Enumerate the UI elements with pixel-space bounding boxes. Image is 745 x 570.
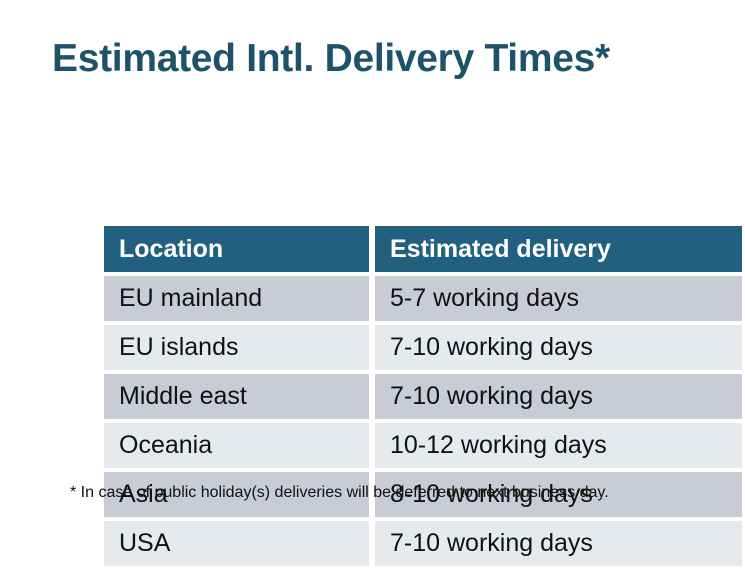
table-row: USA 7-10 working days [104, 521, 742, 566]
table-body: EU mainland 5-7 working days EU islands … [104, 276, 742, 566]
column-header-location: Location [104, 226, 369, 272]
footnote-public-holiday: * In case of public holiday(s) deliverie… [70, 482, 609, 504]
cell-location: Oceania [104, 423, 369, 468]
cell-location: EU mainland [104, 276, 369, 321]
column-header-estimated-delivery: Estimated delivery [375, 226, 742, 272]
delivery-times-page: Estimated Intl. Delivery Times* Location… [0, 0, 745, 536]
cell-location: EU islands [104, 325, 369, 370]
table-header-row: Location Estimated delivery [104, 226, 742, 272]
page-title: Estimated Intl. Delivery Times* [52, 36, 610, 82]
cell-delivery: 7-10 working days [375, 521, 742, 566]
table-row: Oceania 10-12 working days [104, 423, 742, 468]
table-row: EU mainland 5-7 working days [104, 276, 742, 321]
estimated-delivery-times-table: Location Estimated delivery EU mainland … [98, 222, 745, 570]
cell-delivery: 7-10 working days [375, 325, 742, 370]
table-header: Location Estimated delivery [104, 226, 742, 272]
cell-delivery: 7-10 working days [375, 374, 742, 419]
cell-delivery: 5-7 working days [375, 276, 742, 321]
cell-delivery: 10-12 working days [375, 423, 742, 468]
cell-location: Middle east [104, 374, 369, 419]
table-row: EU islands 7-10 working days [104, 325, 742, 370]
cell-location: USA [104, 521, 369, 566]
table-row: Middle east 7-10 working days [104, 374, 742, 419]
